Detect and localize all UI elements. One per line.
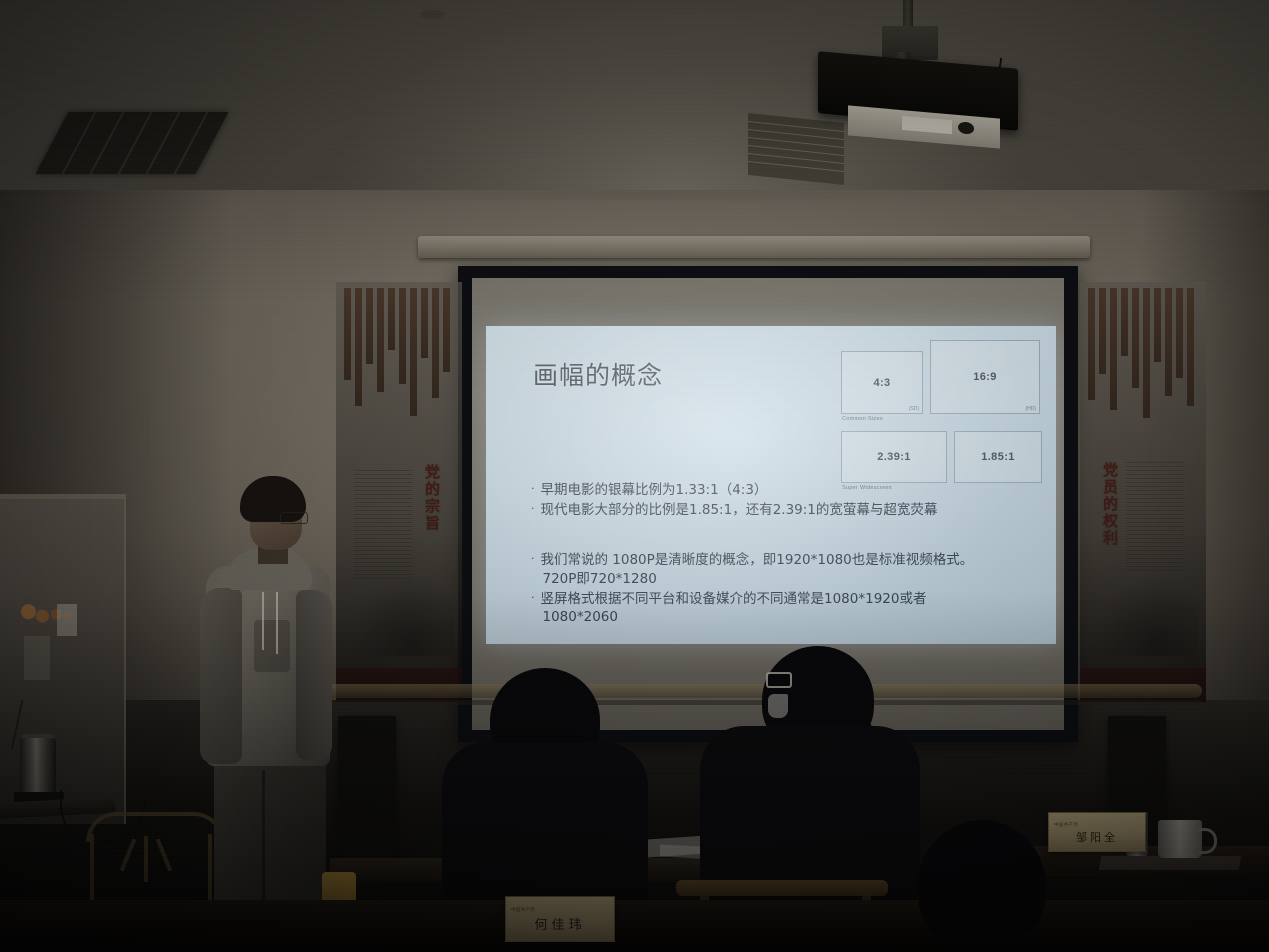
bullet-text: 早期电影的银幕比例为1.33:1（4:3） xyxy=(541,481,768,499)
bullet-text-block: 我们常说的 1080P是清晰度的概念，即1920*1080也是标准视频格式。 7… xyxy=(541,551,974,587)
projector-mount-plate xyxy=(882,26,938,60)
bullet-marker: · xyxy=(531,501,535,519)
water-pitcher-icon xyxy=(1158,820,1202,858)
bullet-marker: · xyxy=(531,481,535,499)
presenter-glasses-icon xyxy=(280,512,308,524)
name-card-org: 中国共产党 xyxy=(511,907,535,913)
chair-y-spine xyxy=(144,836,148,882)
name-card-name: 邹阳全 xyxy=(1076,829,1118,845)
whiteboard-card xyxy=(57,604,77,636)
bullet-item: · 现代电影大部分的比例是1.85:1，还有2.39:1的宽萤幕与超宽荧幕 xyxy=(531,501,1031,519)
electric-kettle-icon xyxy=(20,738,56,796)
classroom-photo: 画幅的概念 4:3 (SD) 16:9 (HD) Common Sizes xyxy=(0,0,1269,952)
bullet-marker: · xyxy=(531,590,535,626)
ratio-label: 16:9 xyxy=(973,371,997,383)
hoodie-drawstring xyxy=(276,592,278,654)
whiteboard-note xyxy=(24,636,50,680)
ratio-sublabel: (SD) xyxy=(909,406,919,412)
ratio-box-1-85-1: 1.85:1 xyxy=(954,431,1042,483)
ratio-label: 1.85:1 xyxy=(981,451,1015,463)
wall-poster-left: 党的宗旨 xyxy=(336,282,462,702)
bullet-subtext: 1080*2060 xyxy=(541,608,927,626)
presenter-hoodie-print xyxy=(254,620,290,672)
poster-shadow-overlay xyxy=(1080,282,1206,702)
presenter-arm-right xyxy=(296,590,332,760)
name-card-name: 何佳玮 xyxy=(534,914,585,933)
ratio-caption-common: Common Sizes xyxy=(842,416,1046,422)
attendee-glasses-icon xyxy=(766,672,792,688)
hoodie-drawstring xyxy=(262,592,264,650)
wall-poster-right: 党员的权利 xyxy=(1080,282,1206,702)
bullet-item: · 竖屏格式根据不同平台和设备媒介的不同通常是1080*1920或者 1080*… xyxy=(531,590,1031,626)
bullet-marker: · xyxy=(531,551,535,587)
bullet-item: · 早期电影的银幕比例为1.33:1（4:3） xyxy=(531,481,1031,499)
ratio-label: 4:3 xyxy=(873,377,890,389)
ratio-sublabel: (HD) xyxy=(1025,406,1036,412)
name-card: 中国共产党 邹阳全 xyxy=(1048,812,1146,852)
presenter xyxy=(184,470,354,938)
ratio-box-2-39-1: 2.39:1 xyxy=(841,431,947,483)
ceiling-vent-icon xyxy=(36,112,229,174)
presenter-arm-left xyxy=(200,588,242,764)
bullet-subtext: 720P即720*1280 xyxy=(541,570,974,588)
slide-title: 画幅的概念 xyxy=(533,356,663,392)
ratio-label: 2.39:1 xyxy=(877,451,911,463)
chair-y-arm xyxy=(120,838,136,871)
bullet-text-block: 竖屏格式根据不同平台和设备媒介的不同通常是1080*1920或者 1080*20… xyxy=(541,590,927,626)
bullet-text: 竖屏格式根据不同平台和设备媒介的不同通常是1080*1920或者 xyxy=(541,591,927,607)
front-table xyxy=(0,900,1269,952)
bullet-text: 现代电影大部分的比例是1.85:1，还有2.39:1的宽萤幕与超宽荧幕 xyxy=(541,501,938,519)
screen-surface: 画幅的概念 4:3 (SD) 16:9 (HD) Common Sizes xyxy=(472,278,1064,730)
aspect-ratio-diagram: 4:3 (SD) 16:9 (HD) Common Sizes 2.39:1 xyxy=(841,340,1046,500)
name-card: 中国共产党 何佳玮 xyxy=(505,896,615,942)
slide-bullets-group-2: · 我们常说的 1080P是清晰度的概念，即1920*1080也是标准视频格式。… xyxy=(531,551,1031,626)
whiteboard xyxy=(0,494,126,824)
whiteboard-top-rail xyxy=(0,494,124,499)
name-card-org: 中国共产党 xyxy=(1054,822,1078,828)
bullet-item: · 我们常说的 1080P是清晰度的概念，即1920*1080也是标准视频格式。… xyxy=(531,551,1031,587)
poster-shadow-overlay xyxy=(336,282,462,702)
attendee-body xyxy=(700,726,920,906)
screen-roller-housing xyxy=(418,236,1090,258)
bullet-text: 我们常说的 1080P是清晰度的概念，即1920*1080也是标准视频格式。 xyxy=(541,552,974,568)
ratio-box-4-3: 4:3 (SD) xyxy=(841,351,923,414)
ceiling-vent-secondary-icon xyxy=(748,113,844,185)
attendee-face-mask-icon xyxy=(768,694,788,718)
slide-bullets: · 早期电影的银幕比例为1.33:1（4:3） · 现代电影大部分的比例是1.8… xyxy=(531,481,1031,628)
table-mat xyxy=(1099,856,1241,870)
chair-y-arm xyxy=(156,838,172,871)
attendee-body xyxy=(442,742,648,914)
smoke-detector-icon xyxy=(420,10,444,19)
projected-slide: 画幅的概念 4:3 (SD) 16:9 (HD) Common Sizes xyxy=(486,326,1056,644)
ratio-box-16-9: 16:9 (HD) xyxy=(930,340,1040,414)
attendee-head xyxy=(918,820,1046,952)
